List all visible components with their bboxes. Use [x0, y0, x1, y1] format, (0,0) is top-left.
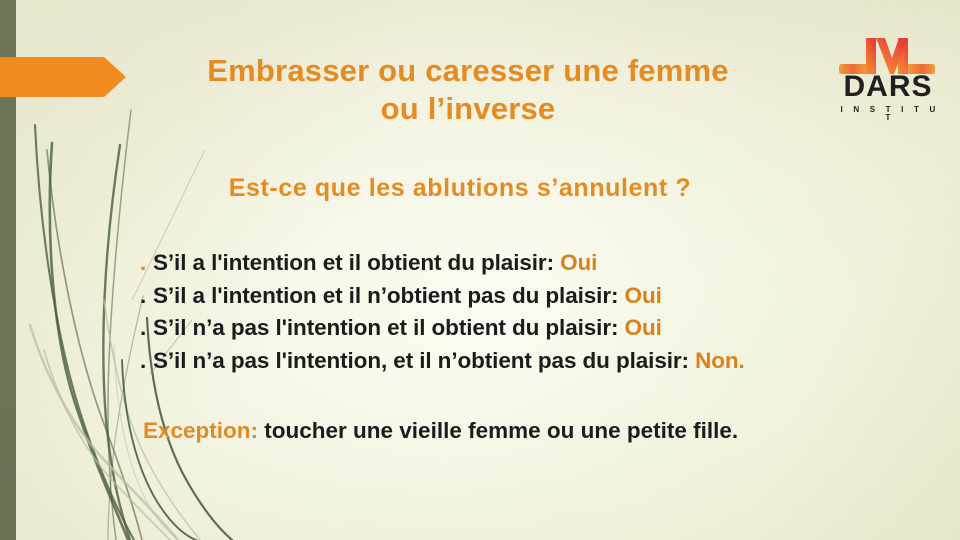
exception-note: Exception: toucher une vieille femme ou …: [143, 418, 943, 444]
exception-text: toucher une vieille femme ou une petite …: [258, 418, 738, 443]
bullet-marker: .: [140, 247, 153, 280]
bullet-answer: Oui: [560, 250, 597, 275]
dars-institut-logo: DARS I N S T I T U T: [834, 28, 942, 124]
list-item: .S’il n’a pas l'intention, et il n’obtie…: [140, 345, 930, 378]
list-item: .S’il a l'intention et il obtient du pla…: [140, 247, 930, 280]
bullet-answer: Non.: [695, 348, 745, 373]
bullet-text: S’il a l'intention et il n’obtient pas d…: [153, 283, 625, 308]
slide-title: Embrasser ou caresser une femme ou l’inv…: [118, 52, 818, 129]
dars-m-monogram-icon: [836, 28, 940, 74]
bullet-marker: .: [140, 312, 153, 345]
bullet-text: S’il n’a pas l'intention, et il n’obtien…: [153, 348, 695, 373]
bullet-answer: Oui: [625, 283, 662, 308]
slide-canvas: DARS I N S T I T U T Embrasser ou caress…: [0, 0, 960, 540]
bullet-marker: .: [140, 345, 153, 378]
orange-chevron-banner: [0, 57, 126, 97]
slide-title-line-2: ou l’inverse: [118, 90, 818, 128]
logo-wordmark: DARS: [834, 72, 942, 102]
exception-label: Exception:: [143, 418, 258, 443]
list-item: .S’il a l'intention et il n’obtient pas …: [140, 280, 930, 313]
bullet-marker: .: [140, 280, 153, 313]
slide-subtitle: Est-ce que les ablutions s’annulent ?: [100, 174, 820, 203]
bullet-text: S’il n’a pas l'intention et il obtient d…: [153, 315, 625, 340]
logo-tagline: I N S T I T U T: [834, 106, 942, 122]
bullet-answer: Oui: [625, 315, 662, 340]
bullet-list: .S’il a l'intention et il obtient du pla…: [140, 247, 930, 377]
bullet-text: S’il a l'intention et il obtient du plai…: [153, 250, 560, 275]
list-item: .S’il n’a pas l'intention et il obtient …: [140, 312, 930, 345]
slide-title-line-1: Embrasser ou caresser une femme: [118, 52, 818, 90]
